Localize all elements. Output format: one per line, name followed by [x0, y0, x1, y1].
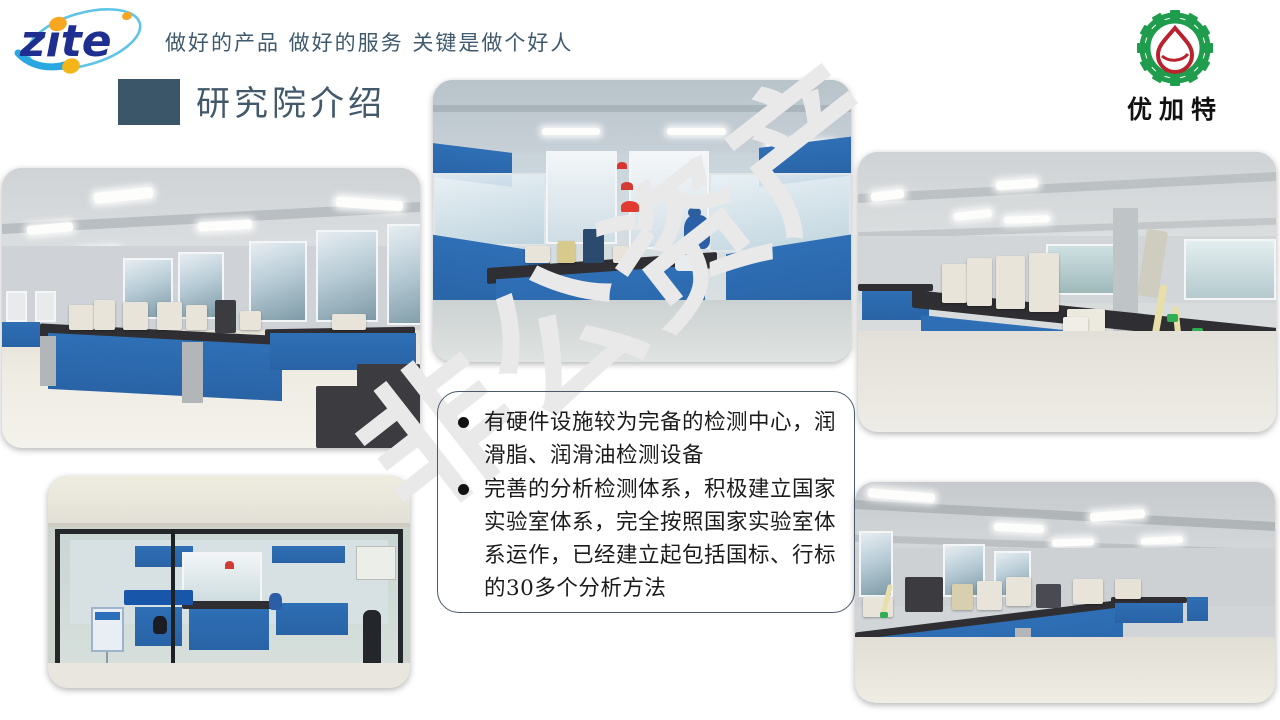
droplet-icon [1158, 28, 1192, 72]
photo-top-left [2, 168, 420, 448]
bullet-text: 完善的分析检测体系，积极建立国家实验室体系，完全按照国家实验室体系运作，已经建立… [484, 477, 836, 601]
list-item: 完善的分析检测体系，积极建立国家实验室体系，完全按照国家实验室体系运作，已经建立… [454, 473, 838, 605]
zite-logo-icon: zite [8, 6, 158, 78]
info-text-card: 有硬件设施较为完备的检测中心，润滑脂、润滑油检测设备 完善的分析检测体系，积极建… [437, 391, 855, 613]
bullet-dot-icon [458, 484, 469, 495]
page-title: 研究院介绍 [196, 76, 386, 125]
bullet-dot-icon [458, 417, 469, 428]
title-accent-block [118, 79, 180, 125]
photo-bottom-left [48, 476, 410, 688]
photo-top-mid [433, 80, 851, 362]
product-logo-youjiate: 优加特 [1090, 6, 1260, 124]
bullet-text: 有硬件设施较为完备的检测中心，润滑脂、润滑油检测设备 [484, 410, 836, 468]
company-tagline: 做好的产品 做好的服务 关键是做个好人 [165, 27, 573, 57]
bullet-list: 有硬件设施较为完备的检测中心，润滑脂、润滑油检测设备 完善的分析检测体系，积极建… [454, 406, 838, 605]
gear-icon [1122, 6, 1228, 90]
photo-bottom-right [855, 482, 1275, 703]
product-brand-label: 优加特 [1090, 90, 1260, 126]
gear-wrap [1090, 6, 1260, 92]
photo-top-right [858, 152, 1276, 432]
list-item: 有硬件设施较为完备的检测中心，润滑脂、润滑油检测设备 [454, 406, 838, 472]
company-logo-zite: zite [8, 6, 158, 78]
presentation-slide: 非公资产 zite 做好的产品 做好的服务 关键是做个好人 研究院介绍 [0, 0, 1280, 720]
